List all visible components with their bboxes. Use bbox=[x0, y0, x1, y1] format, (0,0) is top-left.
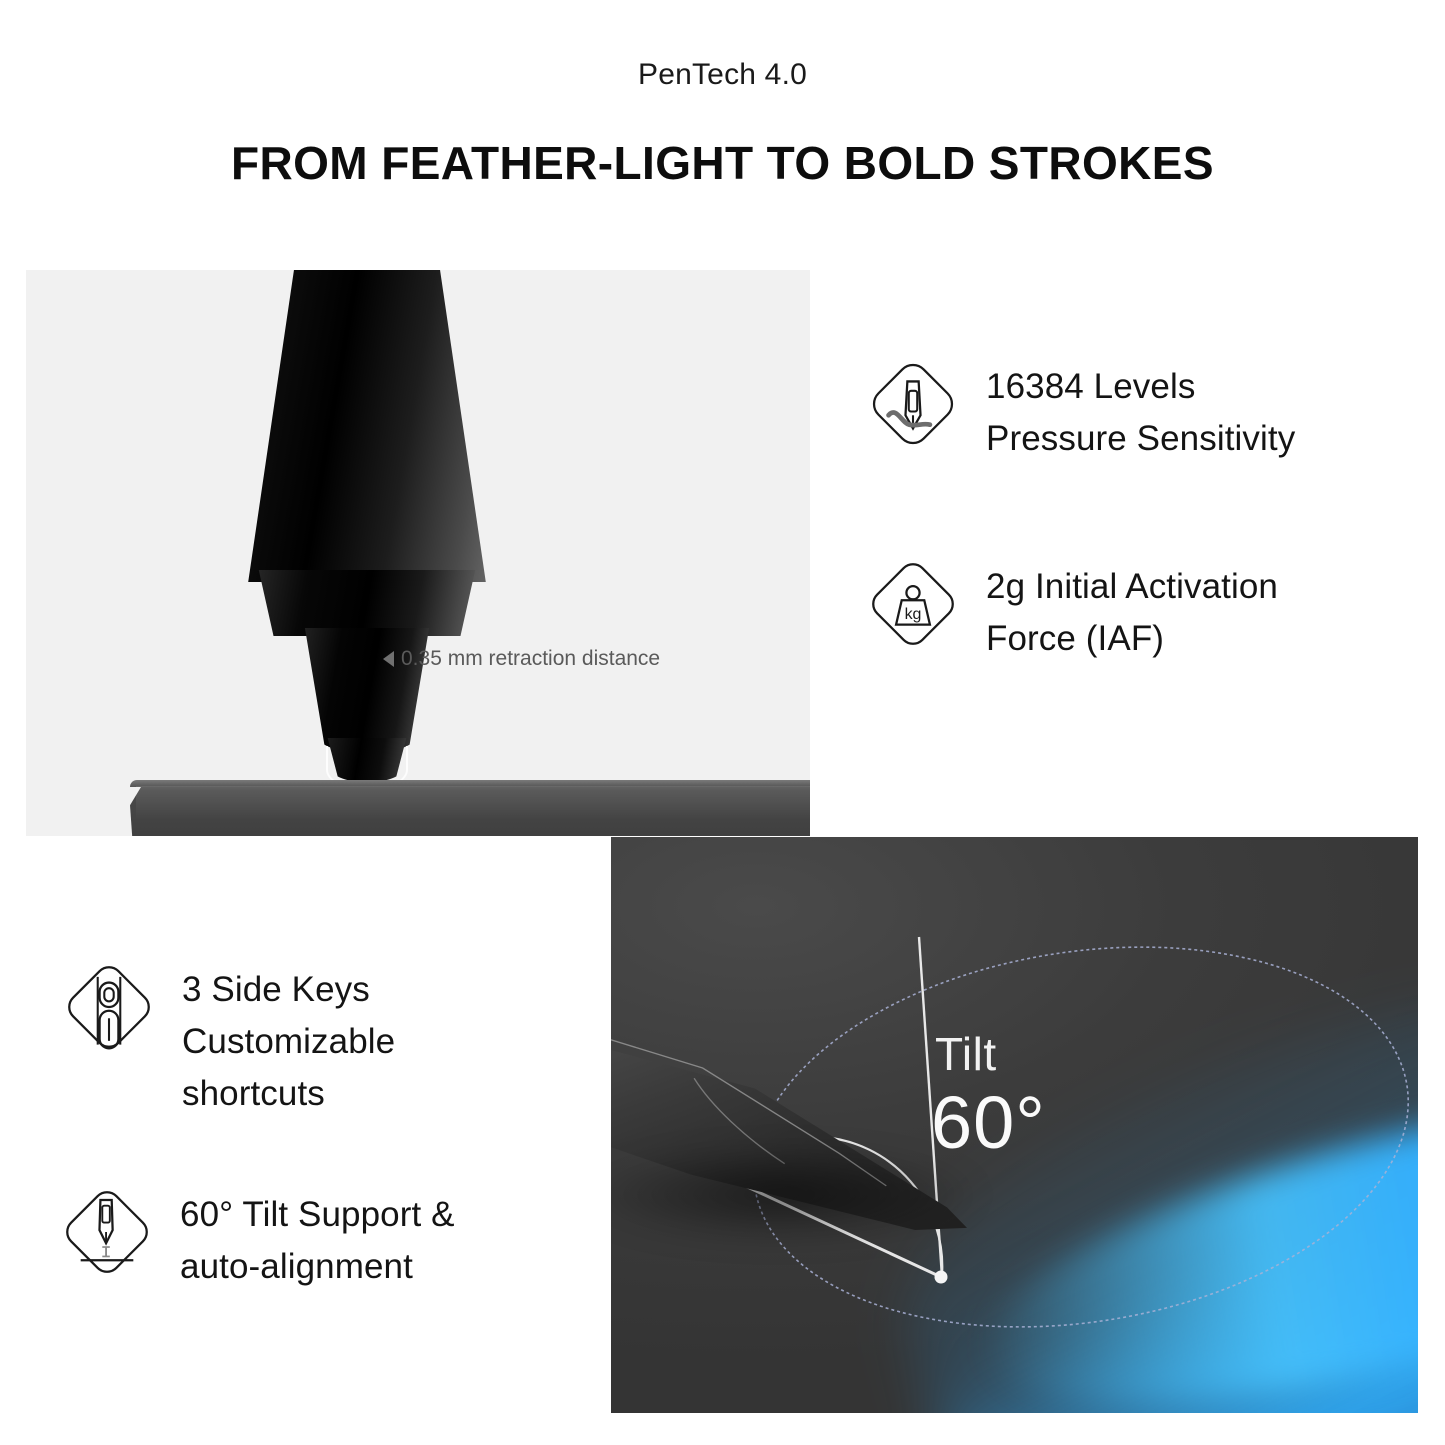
retraction-annotation: 0.35 mm retraction distance bbox=[383, 647, 660, 671]
pen-pressure-icon bbox=[866, 357, 960, 451]
feature-pressure-label: 16384 Levels Pressure Sensitivity bbox=[986, 357, 1295, 465]
promo-graphic: PenTech 4.0 FROM FEATHER-LIGHT TO BOLD S… bbox=[0, 0, 1445, 1445]
stylus-cone-lower bbox=[244, 570, 490, 636]
feature-pressure-sensitivity: 16384 Levels Pressure Sensitivity bbox=[866, 357, 1295, 465]
weight-unit-label: kg bbox=[905, 606, 922, 623]
pen-tilt-alignment-icon bbox=[60, 1185, 154, 1279]
feature-side-keys-label: 3 Side Keys Customizable shortcuts bbox=[182, 960, 395, 1119]
pen-side-keys-icon bbox=[62, 960, 156, 1054]
feature-side-keys: 3 Side Keys Customizable shortcuts bbox=[62, 960, 395, 1119]
product-eyebrow: PenTech 4.0 bbox=[0, 58, 1445, 92]
tablet-highlight bbox=[136, 786, 810, 820]
feature-tilt-label: 60° Tilt Support & auto-alignment bbox=[180, 1185, 455, 1293]
left-triangle-icon bbox=[383, 651, 394, 667]
pen-tip-on-tablet-photo bbox=[26, 270, 810, 836]
retraction-annotation-label: 0.35 mm retraction distance bbox=[401, 647, 660, 671]
page-title: FROM FEATHER-LIGHT TO BOLD STROKES bbox=[0, 136, 1445, 190]
tilt-value: 60° bbox=[931, 1080, 1046, 1165]
weight-kg-icon: kg bbox=[866, 557, 960, 651]
tilt-label: Tilt bbox=[935, 1027, 997, 1081]
feature-iaf-label: 2g Initial Activation Force (IAF) bbox=[986, 557, 1278, 665]
stylus-cone bbox=[202, 270, 532, 582]
feature-tilt-support: 60° Tilt Support & auto-alignment bbox=[60, 1185, 455, 1293]
feature-initial-activation-force: kg 2g Initial Activation Force (IAF) bbox=[866, 557, 1278, 665]
pen-tilt-photo: Tilt 60° bbox=[611, 837, 1418, 1413]
